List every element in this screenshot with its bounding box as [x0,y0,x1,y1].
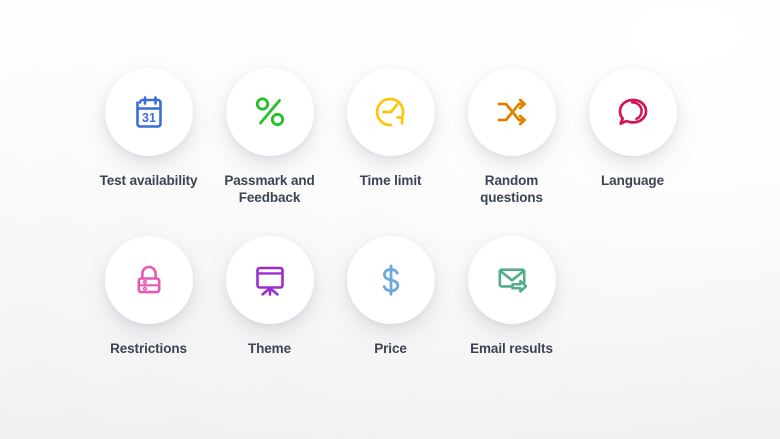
settings-grid: 31 Test availability Pass [0,0,780,439]
speech-bubble-icon [611,90,655,134]
tile-icon-circle[interactable] [468,68,556,156]
tile-icon-circle[interactable] [226,236,314,324]
settings-row-2: Restrictions Theme [88,236,728,358]
tile-icon-circle[interactable] [468,236,556,324]
tile-random-questions[interactable]: Random questions [451,68,572,206]
tile-label: Passmark and Feedback [211,173,329,206]
tile-label: Test availability [100,173,198,190]
tile-test-availability[interactable]: 31 Test availability [88,68,209,190]
tile-label: Theme [248,341,291,358]
tile-icon-circle[interactable] [347,68,435,156]
tile-label: Price [374,341,407,358]
lock-icon [127,258,171,302]
tile-restrictions[interactable]: Restrictions [88,236,209,358]
dollar-sign-icon [369,258,413,302]
tile-icon-circle[interactable] [347,236,435,324]
tile-theme[interactable]: Theme [209,236,330,358]
svg-text:31: 31 [142,111,156,125]
shuffle-icon [490,90,534,134]
tile-label: Random questions [453,173,571,206]
tile-language[interactable]: Language [572,68,693,190]
tile-time-limit[interactable]: Time limit [330,68,451,190]
presentation-board-icon [248,258,292,302]
tile-icon-circle[interactable] [226,68,314,156]
tile-icon-circle[interactable] [589,68,677,156]
settings-row-1: 31 Test availability Pass [88,68,728,206]
tile-passmark-and-feedback[interactable]: Passmark and Feedback [209,68,330,206]
clock-arrow-icon [369,90,413,134]
tile-label: Restrictions [110,341,187,358]
tile-label: Email results [470,341,553,358]
settings-icon-board: 31 Test availability Pass [0,0,780,439]
tile-price[interactable]: Price [330,236,451,358]
percent-icon [248,90,292,134]
tile-label: Time limit [360,173,422,190]
tile-icon-circle[interactable] [105,236,193,324]
calendar-31-icon: 31 [127,90,171,134]
tile-email-results[interactable]: Email results [451,236,572,358]
tile-icon-circle[interactable]: 31 [105,68,193,156]
tile-label: Language [601,173,664,190]
envelope-arrow-icon [490,258,534,302]
